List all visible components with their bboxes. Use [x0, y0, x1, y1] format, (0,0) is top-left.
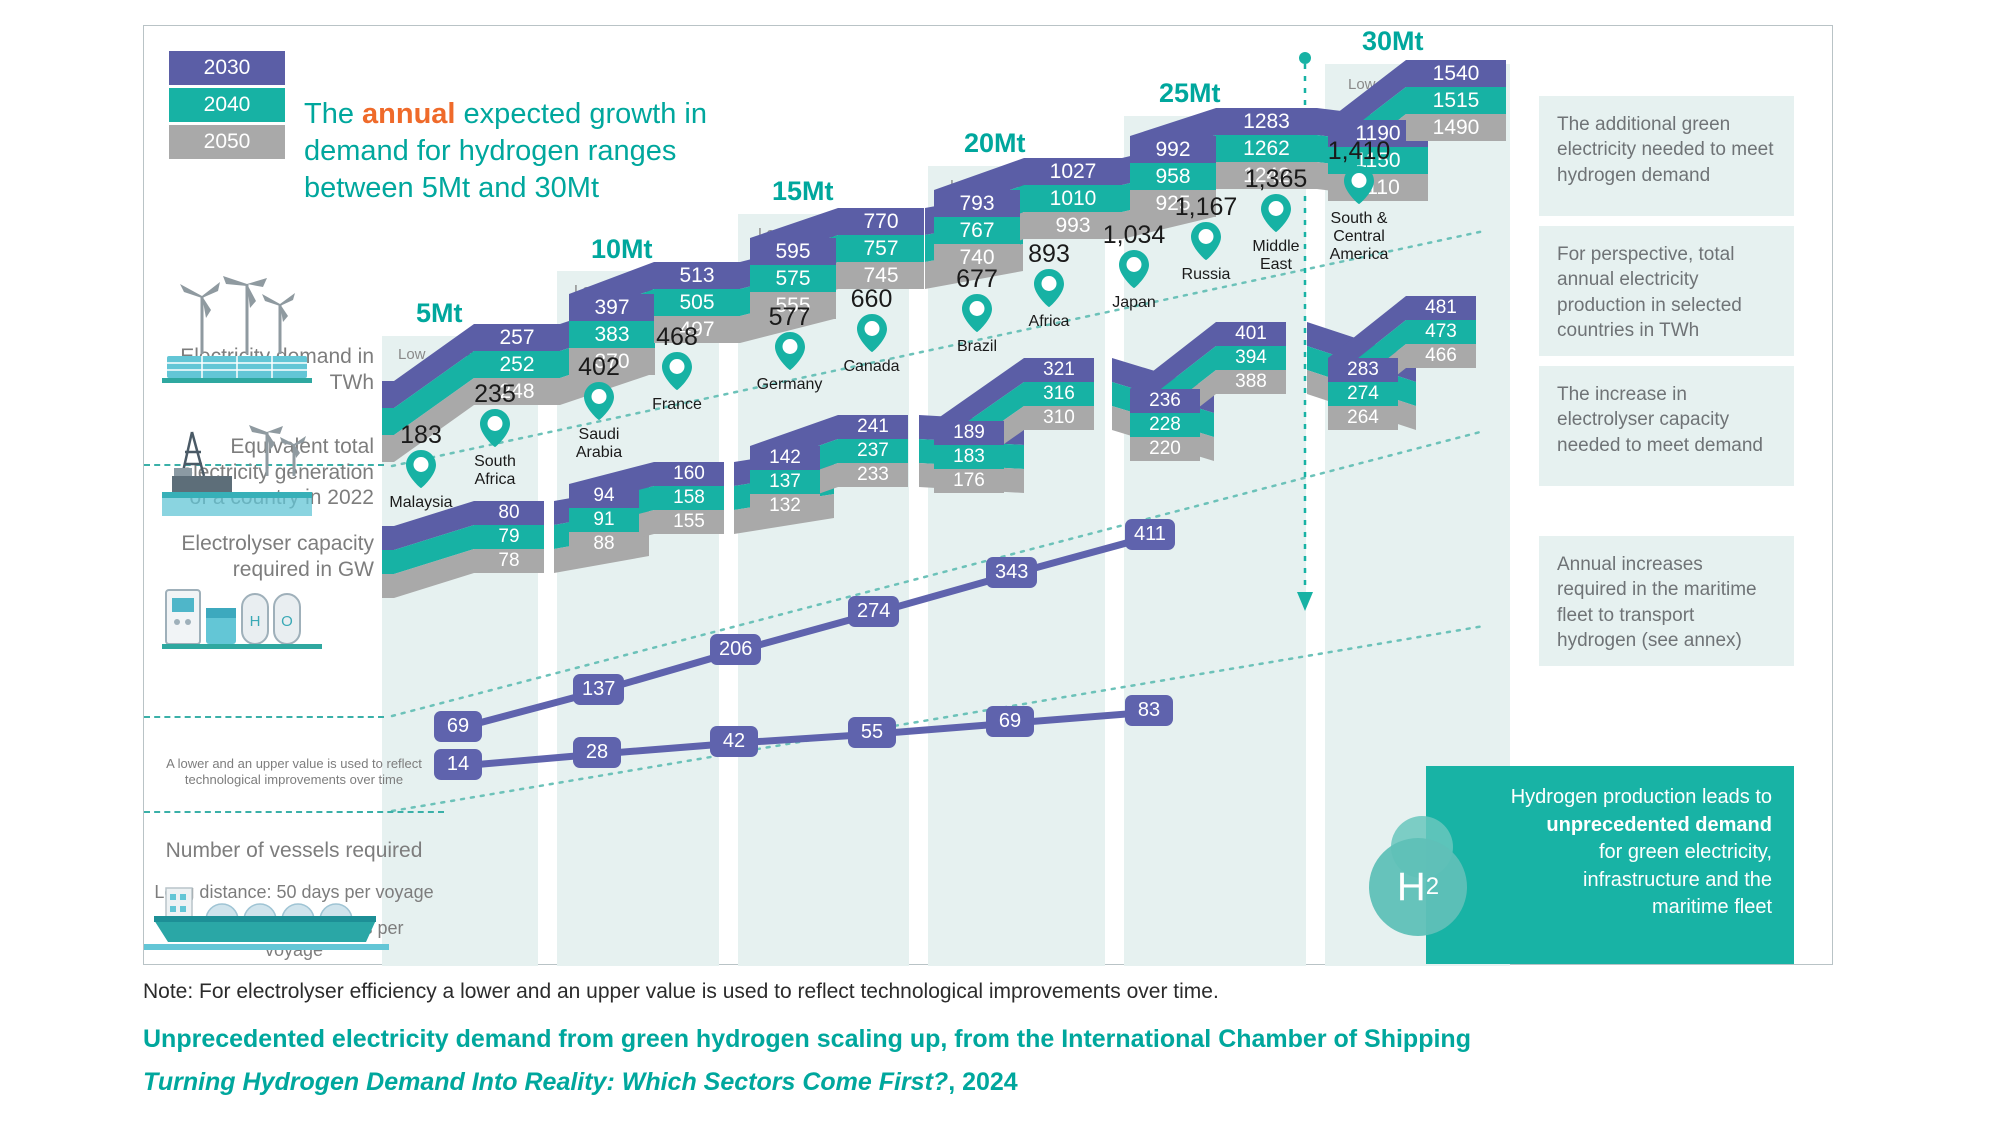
note-text: The additional green electricity needed …: [1557, 114, 1774, 186]
gw-stack-10mt-low: 94 91 88: [569, 484, 639, 556]
column-title-20mt-text: 20Mt: [964, 128, 1026, 158]
note-text: For perspective, total annual electricit…: [1557, 244, 1742, 341]
value-2040: 1515: [1406, 87, 1506, 114]
value-2030: 992: [1130, 136, 1216, 163]
vessel-node-short-15mt: 42: [710, 726, 758, 757]
pin-value: 660: [851, 285, 893, 313]
column-title-10mt-text: 10Mt: [591, 234, 653, 264]
pin-value: 893: [1028, 240, 1070, 268]
value-2030: 793: [934, 190, 1020, 217]
legend-item-2050: 2050: [169, 125, 285, 159]
value-2040: 757: [838, 235, 924, 262]
value-2050: 466: [1406, 344, 1476, 368]
twh-stack-30mt-high: 1540 1515 1490: [1406, 60, 1506, 141]
legend-item-2040: 2040: [169, 88, 285, 122]
svg-text:H: H: [250, 613, 261, 630]
value-2040: 316: [1024, 382, 1094, 406]
value-2030: 321: [1024, 358, 1094, 382]
value-2050: 233: [838, 463, 908, 487]
value-2040: 183: [934, 445, 1004, 469]
note-text: Annual increases required in the maritim…: [1557, 554, 1757, 651]
vessel-node-long-20mt: 274: [848, 596, 899, 627]
map-pin-icon: [1304, 166, 1414, 209]
low-label: Low: [398, 346, 426, 363]
footer-caption-line2: Turning Hydrogen Demand Into Reality: Wh…: [143, 1068, 1018, 1097]
value-2030: 401: [1216, 322, 1286, 346]
value-2050: 264: [1328, 406, 1398, 430]
pin-value: 677: [956, 265, 998, 293]
pin-value: 183: [400, 421, 442, 449]
value-2030: 1540: [1406, 60, 1506, 87]
twh-stack-15mt-high: 770 757 745: [838, 208, 924, 289]
lead-highlight: annual: [362, 98, 455, 130]
column-title-5mt-text: 5Mt: [416, 298, 463, 328]
footer-note: Note: For electrolyser efficiency a lowe…: [143, 980, 1219, 1004]
conclusion-line-2: unprecedented demand: [1448, 812, 1772, 840]
vessel-node-short-5mt: 14: [434, 749, 482, 780]
map-pin-icon: [634, 352, 720, 395]
pin-label: Africa: [1029, 313, 1070, 330]
map-pin-icon: [824, 314, 919, 357]
double-arrow-icon: [433, 349, 479, 361]
vessel-value: 55: [861, 721, 883, 743]
value-2030: 241: [838, 415, 908, 439]
vessel-node-long-5mt: 69: [434, 711, 482, 742]
column-title-15mt-text: 15Mt: [772, 176, 834, 206]
value-2030: 1283: [1216, 108, 1317, 135]
value-2030: 397: [569, 294, 655, 321]
value-2050: 132: [750, 494, 820, 518]
country-pin-south-central-america: 1,410 South &CentralAmerica: [1304, 138, 1414, 264]
gw-stack-30mt-low: 283 274 264: [1328, 358, 1398, 430]
value-2030: 236: [1130, 389, 1200, 413]
country-pin-germany: 577 Germany: [742, 304, 837, 394]
value-2040: 1010: [1024, 185, 1122, 212]
vessel-node-short-10mt: 28: [573, 737, 621, 768]
value-2030: 770: [838, 208, 924, 235]
vessel-value: 28: [586, 741, 608, 763]
value-2030: 94: [569, 484, 639, 508]
offshore-rig-illustration: [162, 424, 312, 524]
main-panel: 5Mt 10Mt 15Mt 20Mt 25Mt 30Mt Low High Lo…: [143, 25, 1833, 965]
vessel-value: 14: [447, 753, 469, 775]
pin-value: 577: [769, 303, 811, 331]
infographic-root: 5Mt 10Mt 15Mt 20Mt 25Mt 30Mt Low High Lo…: [0, 0, 2000, 1125]
pin-value: 1,410: [1328, 137, 1391, 165]
value-2040: 228: [1130, 413, 1200, 437]
vessel-node-long-25mt: 343: [986, 557, 1037, 588]
low-label: Low: [1348, 76, 1376, 93]
country-pin-france: 468 France: [634, 324, 720, 414]
column-title-20mt: 20Mt: [964, 128, 1026, 159]
column-title-10mt: 10Mt: [591, 234, 653, 265]
value-2040: 767: [934, 217, 1020, 244]
separator-gw-vessels: [144, 811, 444, 813]
vessel-node-long-30mt: 411: [1125, 519, 1175, 550]
column-title-25mt: 25Mt: [1159, 78, 1221, 109]
value-2050: 155: [654, 510, 724, 534]
value-2040: 394: [1216, 346, 1286, 370]
h2-badge-h: H: [1397, 865, 1426, 910]
pin-value: 402: [578, 353, 620, 381]
value-2030: 481: [1406, 296, 1476, 320]
gw-stack-25mt-high: 401 394 388: [1216, 322, 1286, 394]
lng-carrier-illustration: [144, 856, 389, 961]
row-label-electrolyser-note: A lower and an upper value is used to re…: [154, 756, 434, 787]
pin-value: 235: [474, 380, 516, 408]
pin-label: SouthAfrica: [474, 453, 516, 488]
vessel-value: 274: [857, 600, 890, 622]
column-title-5mt: 5Mt: [416, 298, 463, 329]
vessel-value: 83: [1138, 699, 1160, 721]
gw-stack-5mt-high: 80 79 78: [474, 501, 544, 573]
country-pin-south-africa: 235 SouthAfrica: [452, 381, 538, 489]
svg-text:O: O: [281, 613, 293, 630]
lead-statement: The annual expected growth in demand for…: [304, 96, 774, 207]
map-pin-icon: [452, 409, 538, 452]
value-2030: 142: [750, 446, 820, 470]
legend-item-2030: 2030: [169, 51, 285, 85]
value-2040: 505: [654, 289, 740, 316]
conclusion-line-5: maritime fleet: [1448, 894, 1772, 922]
footer-note-text: Note: For electrolyser efficiency a lowe…: [143, 980, 1219, 1003]
pin-label: Germany: [757, 376, 823, 393]
pin-label: Russia: [1182, 266, 1231, 283]
pin-label: SaudiArabia: [576, 426, 622, 461]
map-pin-icon: [742, 332, 837, 375]
value-2030: 257: [474, 324, 560, 351]
value-2050: 176: [934, 469, 1004, 493]
pin-label: Canada: [843, 358, 899, 375]
value-2050: 310: [1024, 406, 1094, 430]
value-2040: 473: [1406, 320, 1476, 344]
pin-label: MiddleEast: [1252, 238, 1299, 273]
value-2040: 1262: [1216, 135, 1317, 162]
h2-badge-label: H2: [1369, 838, 1467, 936]
column-title-15mt: 15Mt: [772, 176, 834, 207]
footer-caption-rest: , 2024: [948, 1068, 1018, 1096]
vessel-value: 206: [719, 638, 752, 660]
h2-badge-2: 2: [1426, 873, 1439, 901]
vessel-value: 69: [999, 710, 1021, 732]
gw-stack-10mt-high: 160 158 155: [654, 462, 724, 534]
gw-stack-25mt-low: 236 228 220: [1130, 389, 1200, 461]
footer-caption-italic: Turning Hydrogen Demand Into Reality: Wh…: [143, 1068, 948, 1096]
gw-stack-15mt-high: 241 237 233: [838, 415, 908, 487]
value-2040: 252: [474, 351, 560, 378]
row-note-text: A lower and an upper value is used to re…: [166, 756, 422, 787]
value-2040: 958: [1130, 163, 1216, 190]
value-2030: 80: [474, 501, 544, 525]
map-pin-icon: [1004, 269, 1094, 312]
country-pin-africa: 893 Africa: [1004, 241, 1094, 331]
h2-badge: H2: [1369, 816, 1489, 936]
vessel-value: 69: [447, 715, 469, 737]
note-maritime-fleet: Annual increases required in the maritim…: [1539, 536, 1794, 666]
vessel-value: 137: [582, 678, 615, 700]
electrolyser-illustration: H O: [162, 574, 322, 654]
value-2040: 79: [474, 525, 544, 549]
country-pin-saudi-arabia: 402 SaudiArabia: [556, 354, 642, 462]
value-2030: 283: [1328, 358, 1398, 382]
vessel-node-long-15mt: 206: [710, 634, 761, 665]
footer-caption-line1-text: Unprecedented electricity demand from gr…: [143, 1025, 1471, 1053]
pin-label: South &CentralAmerica: [1330, 210, 1389, 263]
note-country-perspective: For perspective, total annual electricit…: [1539, 226, 1794, 356]
gw-stack-20mt-high: 321 316 310: [1024, 358, 1094, 430]
vessel-node-short-20mt: 55: [848, 717, 896, 748]
conclusion-line-3: for green electricity,: [1448, 839, 1772, 867]
value-2030: 189: [934, 421, 1004, 445]
pin-label: Malaysia: [389, 494, 452, 511]
value-2050: 388: [1216, 370, 1286, 394]
value-2030: 595: [750, 238, 836, 265]
vessel-node-long-10mt: 137: [573, 674, 624, 705]
value-2040: 91: [569, 508, 639, 532]
year-legend: 2030 2040 2050: [169, 51, 285, 162]
gw-stack-30mt-high: 481 473 466: [1406, 296, 1476, 368]
vessel-value: 42: [723, 730, 745, 752]
footer-caption-line1: Unprecedented electricity demand from gr…: [143, 1025, 1471, 1054]
conclusion-line-1: Hydrogen production leads to: [1448, 784, 1772, 812]
separator-country-gw: [144, 716, 384, 718]
vessel-value: 343: [995, 561, 1028, 583]
value-2050: 88: [569, 532, 639, 556]
column-title-30mt-text: 30Mt: [1362, 26, 1424, 56]
value-2050: 78: [474, 549, 544, 573]
vessel-node-short-30mt: 83: [1125, 695, 1173, 726]
value-2030: 1027: [1024, 158, 1122, 185]
conclusion-line-4: infrastructure and the: [1448, 867, 1772, 895]
note-electrolyser-increase: The increase in electrolyser capacity ne…: [1539, 366, 1794, 486]
value-2040: 237: [838, 439, 908, 463]
value-2040: 158: [654, 486, 724, 510]
column-title-30mt: 30Mt: [1362, 26, 1424, 57]
map-pin-icon: [556, 382, 642, 425]
gw-stack-15mt-low: 142 137 132: [750, 446, 820, 518]
value-2050: 220: [1130, 437, 1200, 461]
vessel-value: 411: [1134, 523, 1166, 545]
value-2050: 1490: [1406, 114, 1506, 141]
pin-label: Brazil: [957, 338, 997, 355]
column-title-25mt-text: 25Mt: [1159, 78, 1221, 108]
value-2040: 137: [750, 470, 820, 494]
note-additional-green-electricity: The additional green electricity needed …: [1539, 96, 1794, 216]
value-2040: 274: [1328, 382, 1398, 406]
pin-value: 468: [656, 323, 698, 351]
country-pin-canada: 660 Canada: [824, 286, 919, 376]
gw-stack-20mt-low: 189 183 176: [934, 421, 1004, 493]
vessel-node-short-25mt: 69: [986, 706, 1034, 737]
value-2030: 160: [654, 462, 724, 486]
value-2030: 513: [654, 262, 740, 289]
pin-label: Japan: [1112, 294, 1156, 311]
note-text: The increase in electrolyser capacity ne…: [1557, 384, 1763, 456]
lead-part1: The: [304, 98, 362, 130]
wind-solar-illustration: [162, 276, 312, 386]
pin-label: France: [652, 396, 702, 413]
pin-value: 1,365: [1245, 165, 1308, 193]
